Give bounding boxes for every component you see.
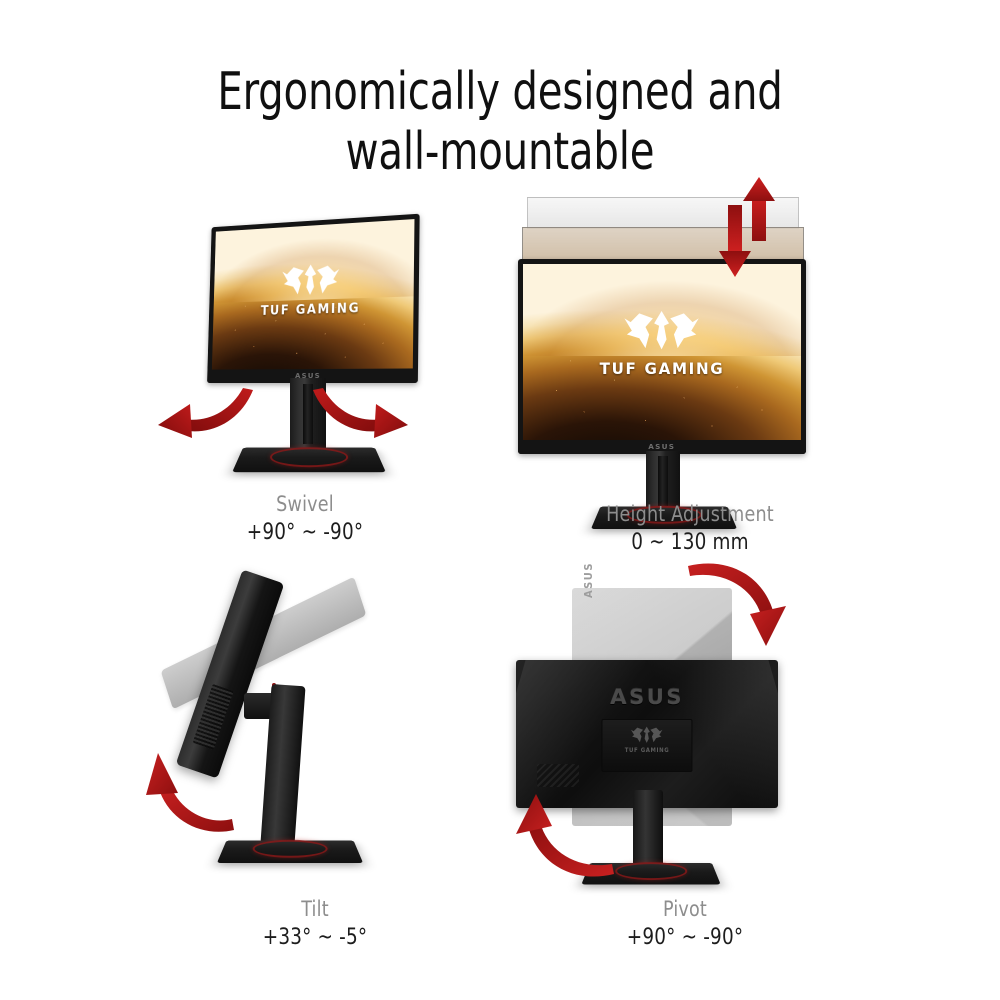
arrow-up-icon [743, 177, 775, 241]
base-red-ring [615, 862, 687, 880]
caption-pivot: Pivot +90° ~ -90° [490, 895, 880, 953]
caption-tilt: Tilt +33° ~ -5° [140, 895, 490, 953]
caption-label: Swivel [133, 490, 477, 518]
feature-tilt: Tilt +33° ~ -5° [140, 565, 490, 955]
screen-wallpaper [523, 264, 801, 440]
rear-asus-logo: ASUS [610, 685, 684, 709]
caption-height: Height Adjustment 0 ~ 130 mm [500, 500, 880, 558]
page-title: Ergonomically designed and wall-mountabl… [70, 62, 930, 182]
base-red-ring [270, 447, 348, 467]
pivot-arrow-counterclockwise [506, 782, 616, 874]
stand-base [222, 827, 358, 875]
pivot-arrow-clockwise [686, 566, 796, 658]
feature-height-adjustment: TUF GAMING ASUS [500, 175, 880, 560]
infographic-page: Ergonomically designed and wall-mountabl… [0, 0, 1000, 1000]
page-title-line2: wall-mountable [70, 122, 930, 182]
rear-tuf-text: TUF GAMING [625, 747, 670, 754]
feature-swivel: TUF GAMING ASUS [120, 190, 490, 560]
height-double-arrow [712, 177, 782, 285]
asus-wordmark: ASUS [649, 443, 676, 451]
page-title-line1: Ergonomically designed and [217, 62, 782, 122]
tilt-arrow [144, 747, 236, 837]
caption-label: Tilt [152, 895, 478, 923]
rear-tuf-logo: TUF GAMING [625, 725, 670, 754]
caption-value: +33° ~ -5° [152, 923, 478, 953]
caption-label: Pivot [504, 895, 867, 923]
swivel-arrow-right [308, 378, 418, 444]
monitor-rear: ASUS TUF GAMING [516, 660, 778, 808]
caption-value: +90° ~ -90° [504, 923, 867, 953]
caption-value: 0 ~ 130 mm [513, 528, 866, 558]
screen-wallpaper [212, 219, 415, 370]
caption-swivel: Swivel +90° ~ -90° [120, 490, 490, 548]
feature-pivot: ASUS ASUS TUF GAMING [490, 560, 880, 955]
caption-label: Height Adjustment [513, 500, 866, 528]
tuf-wing-icon [625, 725, 669, 746]
caption-value: +90° ~ -90° [133, 518, 477, 548]
panel-vent-strip [193, 684, 234, 750]
monitor-bezel: TUF GAMING ASUS [207, 214, 420, 383]
rear-vent-grille [537, 764, 579, 788]
arrow-down-icon [719, 205, 751, 277]
monitor-bezel: TUF GAMING ASUS [518, 259, 806, 454]
swivel-arrow-left [148, 378, 258, 444]
